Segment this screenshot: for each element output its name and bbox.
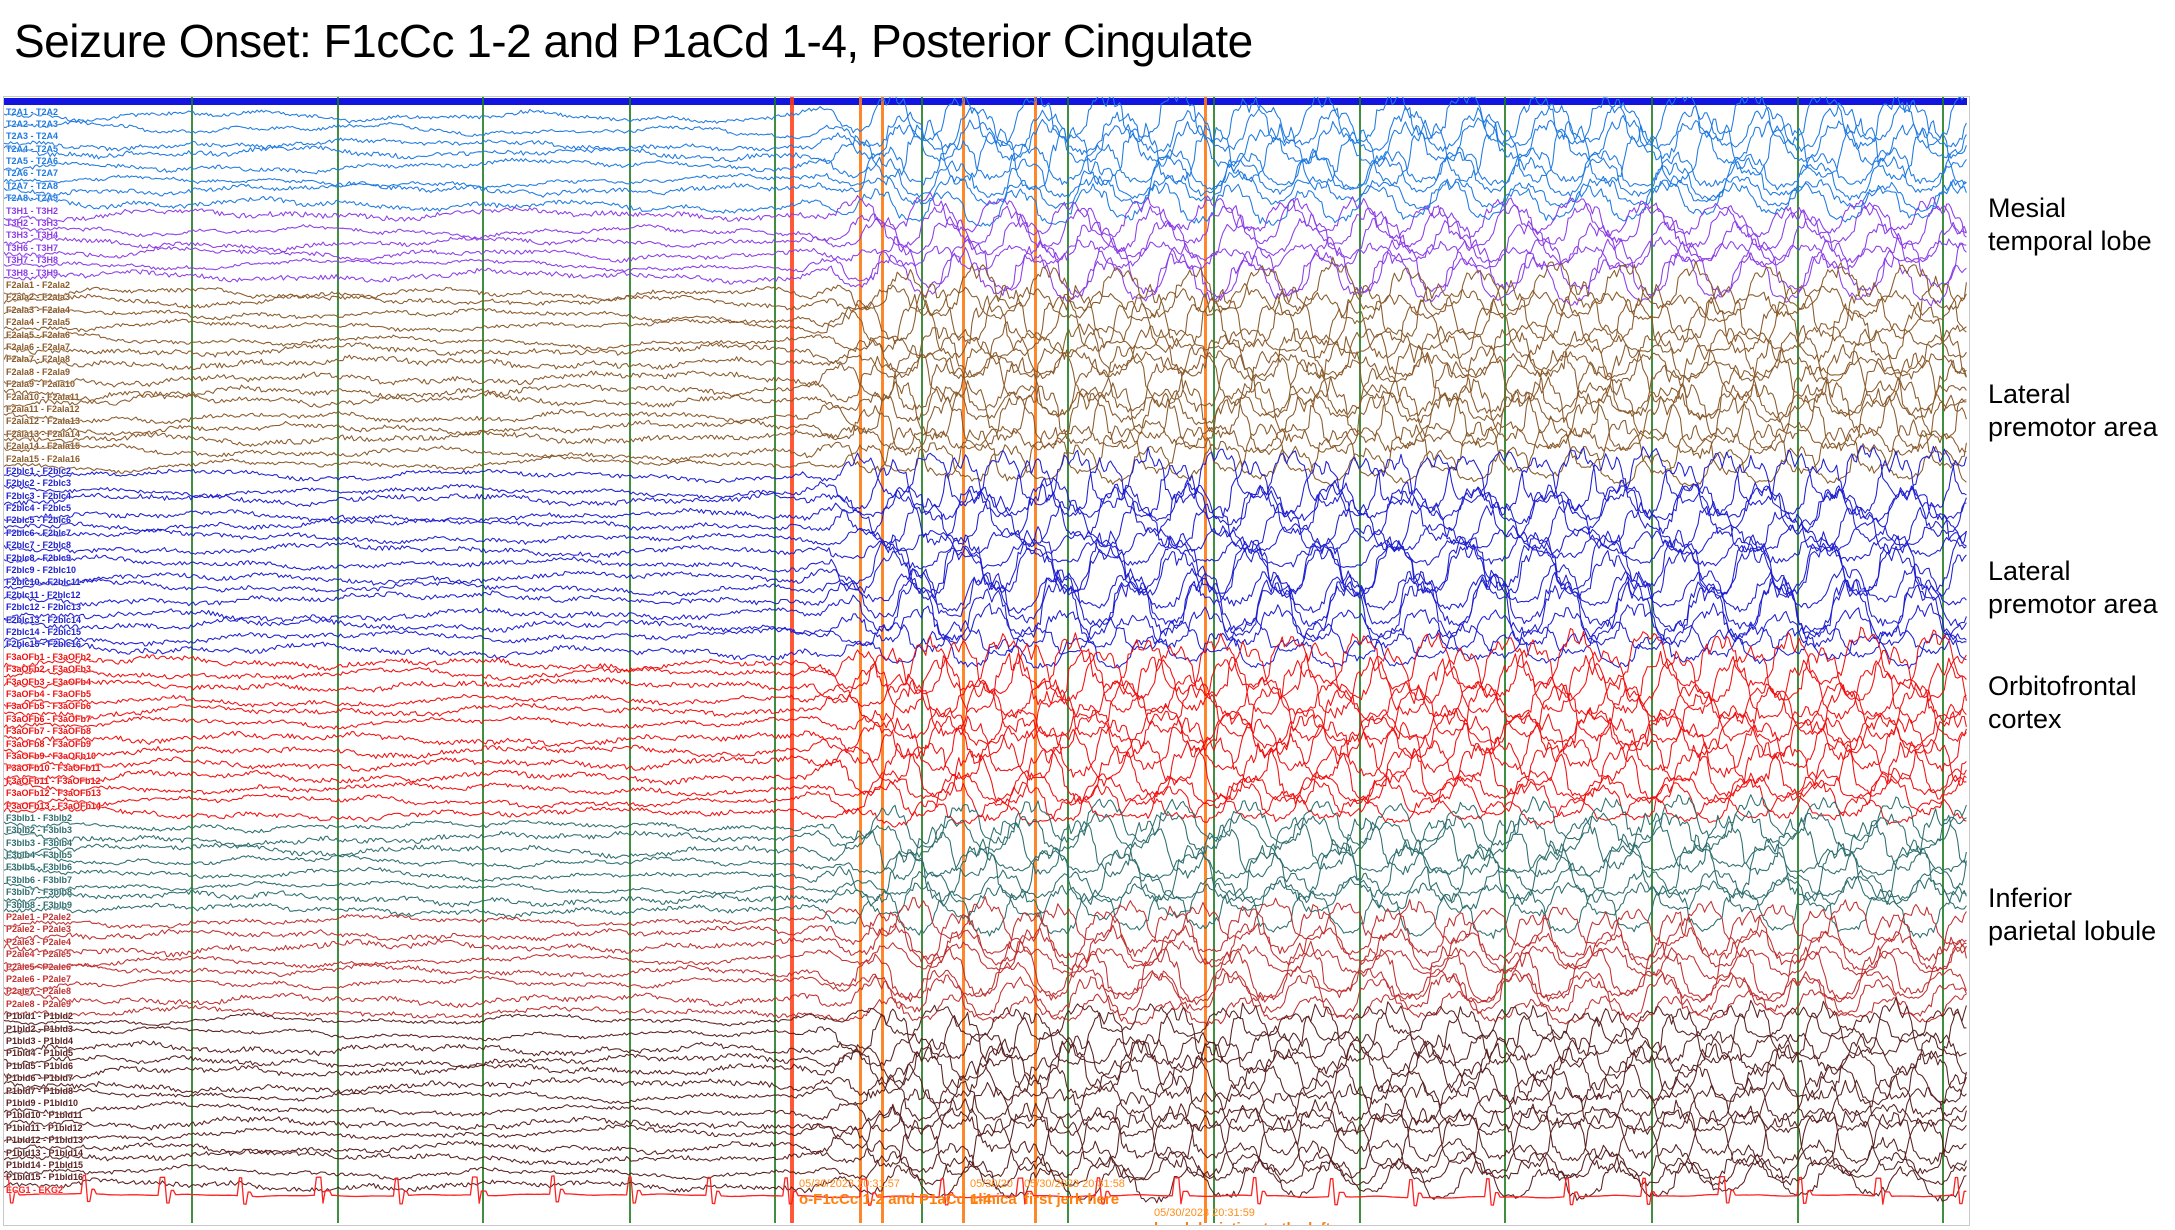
eeg-trace (4, 738, 1966, 804)
channel-label[interactable]: P1bld11 - P1bld12 (6, 1124, 83, 1133)
channel-label[interactable]: F3aOFb13 - F3aOFb14 (6, 802, 101, 811)
channel-label[interactable]: F2blc4 - F2blc5 (6, 504, 71, 513)
channel-label[interactable]: F3blb7 - F3blb8 (6, 888, 72, 897)
eeg-waveform-layer (4, 97, 1967, 1223)
region-label-orbitofrontal-cortex: Orbitofrontal cortex (1988, 670, 2163, 736)
channel-label[interactable]: P1bld2 - P1bld3 (6, 1025, 73, 1034)
region-label-inferior-parietal-lobule: Inferior parietal lobule (1988, 882, 2163, 948)
channel-label[interactable]: P2ale8 - P2ale9 (6, 1000, 71, 1009)
eeg-trace (4, 564, 1966, 614)
channel-label[interactable]: F3aOFb12 - F3aOFb13 (6, 789, 101, 798)
channel-label[interactable]: F3blb1 - F3blb2 (6, 814, 72, 823)
eeg-annotation-clinical[interactable]: 05/30/20clinica (970, 1178, 1017, 1208)
annotation-text: head deviation to the left (1154, 1220, 1331, 1226)
channel-label[interactable]: P1bld14 - P1bld15 (6, 1161, 83, 1170)
channel-label[interactable]: T2A2 - T2A3 (6, 120, 58, 129)
eeg-trace (4, 233, 1966, 297)
channel-label[interactable]: F2ala8 - F2ala9 (6, 368, 70, 377)
eeg-trace (4, 1071, 1966, 1123)
channel-label[interactable]: P1bld7 - P1bld8 (6, 1087, 73, 1096)
channel-label[interactable]: T3H2 - T3H3 (6, 219, 58, 228)
eeg-canvas[interactable]: T2A1 - T2A2T2A2 - T2A3T2A3 - T2A4T2A4 - … (4, 97, 1967, 1223)
channel-label[interactable]: P2ale6 - P2ale7 (6, 975, 71, 984)
annotation-text: first jerk here (1024, 1191, 1125, 1208)
channel-label[interactable]: P1bld6 - P1bld7 (6, 1074, 73, 1083)
region-label-lateral-premotor-area-1: Lateral premotor area (1988, 378, 2163, 444)
channel-label[interactable]: P1bld10 - P1bld11 (6, 1111, 83, 1120)
channel-label[interactable]: P2ale2 - P2ale3 (6, 925, 71, 934)
channel-label[interactable]: F2ala1 - F2ala2 (6, 281, 70, 290)
eeg-trace (4, 519, 1966, 558)
channel-label[interactable]: F2ala10 - F2ala11 (6, 393, 80, 402)
channel-label[interactable]: F2blc15 - F2blc16 (6, 640, 81, 649)
channel-label[interactable]: P1bld5 - P1bld6 (6, 1062, 73, 1071)
eeg-trace (4, 792, 1966, 828)
eeg-trace (4, 1078, 1966, 1132)
channel-label[interactable]: F2ala9 - F2ala10 (6, 380, 75, 389)
channel-label[interactable]: T2A6 - T2A7 (6, 169, 58, 178)
channel-label[interactable]: F3aOFb11 - F3aOFb12 (6, 777, 101, 786)
channel-label[interactable]: F2blc5 - F2blc6 (6, 516, 71, 525)
channel-label[interactable]: P2ale3 - P2ale4 (6, 938, 71, 947)
channel-label[interactable]: F3blb6 - F3blb7 (6, 876, 72, 885)
eeg-trace (4, 1137, 1966, 1182)
channel-label[interactable]: F2ala7 - F2ala8 (6, 355, 70, 364)
region-label-mesial-temporal-lobe: Mesial temporal lobe (1988, 192, 2163, 258)
channel-label[interactable]: F2blc11 - F2blc12 (6, 591, 81, 600)
eeg-annotation-first-jerk[interactable]: 05/30/2023 20:31:58first jerk here (1024, 1178, 1125, 1208)
eeg-trace (4, 940, 1966, 979)
eeg-trace (4, 1104, 1966, 1136)
channel-label[interactable]: P2ale5 - P2ale6 (6, 963, 71, 972)
channel-label[interactable]: P1bld4 - P1bld5 (6, 1049, 73, 1058)
eeg-trace (4, 451, 1966, 519)
channel-label[interactable]: T3H7 - T3H8 (6, 256, 58, 265)
eeg-trace (4, 527, 1966, 596)
channel-label[interactable]: T2A8 - T2A9 (6, 194, 58, 203)
region-label-lateral-premotor-area-2: Lateral premotor area (1988, 555, 2163, 621)
annotation-text: clinica (970, 1191, 1017, 1208)
eeg-trace (4, 149, 1966, 200)
channel-label[interactable]: F2ala2 - F2ala3 (6, 293, 70, 302)
channel-label[interactable]: P1bld12 - P1bld13 (6, 1136, 83, 1145)
channel-label[interactable]: F2blc2 - F2blc3 (6, 479, 71, 488)
channel-label[interactable]: F2blc13 - F2blc14 (6, 616, 81, 625)
channel-label[interactable]: F2blc3 - F2blc4 (6, 492, 71, 501)
channel-label[interactable]: P2ale7 - P2ale8 (6, 987, 71, 996)
annotation-timestamp: 05/30/2023 20:31:59 (1154, 1207, 1331, 1220)
eeg-trace (4, 100, 1966, 154)
channel-label[interactable]: F3blb2 - F3blb3 (6, 826, 72, 835)
eeg-trace (4, 569, 1966, 632)
channel-label[interactable]: F3blb3 - F3blb4 (6, 839, 72, 848)
eeg-review-screen: Seizure Onset: F1cCc 1-2 and P1aCd 1-4, … (0, 0, 2175, 1230)
channel-label[interactable]: F2blc14 - F2blc15 (6, 628, 81, 637)
channel-label[interactable]: T2A5 - T2A6 (6, 157, 58, 166)
channel-label[interactable]: T3H8 - T3H9 (6, 269, 58, 278)
eeg-trace (4, 628, 1966, 669)
channel-label[interactable]: P2ale1 - P2ale2 (6, 913, 71, 922)
channel-label[interactable]: T3H1 - T3H2 (6, 207, 58, 216)
channel-label[interactable]: P1bld3 - P1bld4 (6, 1037, 73, 1046)
page-title: Seizure Onset: F1cCc 1-2 and P1aCd 1-4, … (14, 12, 1714, 72)
eeg-trace (4, 627, 1966, 694)
channel-label[interactable]: F2ala11 - F2ala12 (6, 405, 80, 414)
eeg-trace (4, 193, 1966, 239)
channel-label[interactable]: F2blc7 - F2blc8 (6, 541, 71, 550)
channel-label[interactable]: F3aOFb4 - F3aOFb5 (6, 690, 91, 699)
channel-label[interactable]: F3blb4 - F3blb5 (6, 851, 72, 860)
channel-label[interactable]: F2blc9 - F2blc10 (6, 566, 76, 575)
eeg-annotation-onset[interactable]: 05/30/2023 20:31:57o-F1cCc 1-2 and P1aCd… (799, 1178, 992, 1208)
channel-label[interactable]: F3blb5 - F3blb6 (6, 863, 72, 872)
annotation-text: o-F1cCc 1-2 and P1aCd 1-4 (799, 1191, 992, 1208)
channel-label[interactable]: T2A3 - T2A4 (6, 132, 58, 141)
channel-label[interactable]: F2blc12 - F2blc13 (6, 603, 81, 612)
channel-label[interactable]: F3aOFb10 - F3aOFb11 (6, 764, 101, 773)
channel-label[interactable]: P2ale4 - P2ale5 (6, 950, 71, 959)
channel-label[interactable]: F2ala5 - F2ala6 (6, 331, 70, 340)
channel-label[interactable]: F3aOFb2 - F3aOFb3 (6, 665, 91, 674)
eeg-trace-panel[interactable]: T2A1 - T2A2T2A2 - T2A3T2A3 - T2A4T2A4 - … (3, 96, 1970, 1226)
annotation-timestamp: 05/30/2023 20:31:58 (1024, 1178, 1125, 1191)
channel-label[interactable]: P1bld13 - P1bld14 (6, 1149, 83, 1158)
channel-label[interactable]: F2ala3 - F2ala4 (6, 306, 70, 315)
channel-label[interactable]: P1bld15 - P1bld16 (6, 1173, 83, 1182)
channel-label[interactable]: F2ala4 - F2ala5 (6, 318, 70, 327)
channel-label[interactable]: F3aOFb8 - F3aOFb9 (6, 740, 91, 749)
channel-label[interactable]: F3blb8 - F3blb9 (6, 901, 72, 910)
channel-label[interactable]: F3aOFb5 - F3aOFb6 (6, 702, 91, 711)
channel-label[interactable]: P1bld9 - P1bld10 (6, 1099, 78, 1108)
channel-label[interactable]: F3aOFb6 - F3aOFb7 (6, 715, 91, 724)
channel-label[interactable]: F3aOFb3 - F3aOFb4 (6, 678, 91, 687)
channel-label[interactable]: T2A4 - T2A5 (6, 145, 58, 154)
channel-label[interactable]: F2ala15 - F2ala16 (6, 455, 80, 464)
channel-label[interactable]: F2blc1 - F2blc2 (6, 467, 71, 476)
channel-label[interactable]: T3H6 - T3H7 (6, 244, 58, 253)
channel-label[interactable]: F2blc6 - F2blc7 (6, 529, 71, 538)
channel-label[interactable]: F3aOFb9 - F3aOFb10 (6, 752, 96, 761)
channel-label[interactable]: T2A1 - T2A2 (6, 108, 58, 117)
channel-label[interactable]: F2ala6 - F2ala7 (6, 343, 70, 352)
channel-label[interactable]: F3aOFb1 - F3aOFb2 (6, 653, 91, 662)
eeg-trace (4, 1041, 1966, 1101)
channel-label[interactable]: P1bld1 - P1bld2 (6, 1012, 73, 1021)
channel-label[interactable]: F2blc10 - F2blc11 (6, 578, 81, 587)
eeg-trace (4, 776, 1966, 823)
annotation-timestamp: 05/30/2023 20:31:57 (799, 1178, 992, 1191)
channel-label[interactable]: T3H3 - T3H4 (6, 231, 58, 240)
annotation-timestamp: 05/30/20 (970, 1178, 1017, 1191)
channel-label[interactable]: F2blc8 - F2blc9 (6, 554, 71, 563)
channel-label[interactable]: F2ala13 - F2ala14 (6, 430, 80, 439)
channel-label[interactable]: T2A7 - T2A8 (6, 182, 58, 191)
channel-label[interactable]: F3aOFb7 - F3aOFb8 (6, 727, 91, 736)
eeg-trace (4, 962, 1966, 1003)
eeg-trace (4, 617, 1966, 661)
channel-label[interactable]: ECG1 - EKG2 (6, 1186, 63, 1195)
eeg-trace (4, 603, 1966, 652)
eeg-trace (4, 389, 1966, 459)
eeg-annotation-head-deviation[interactable]: 05/30/2023 20:31:59head deviation to the… (1154, 1207, 1331, 1226)
channel-label[interactable]: F2ala14 - F2ala15 (6, 442, 80, 451)
channel-label[interactable]: F2ala12 - F2ala13 (6, 417, 80, 426)
eeg-trace (4, 704, 1966, 748)
